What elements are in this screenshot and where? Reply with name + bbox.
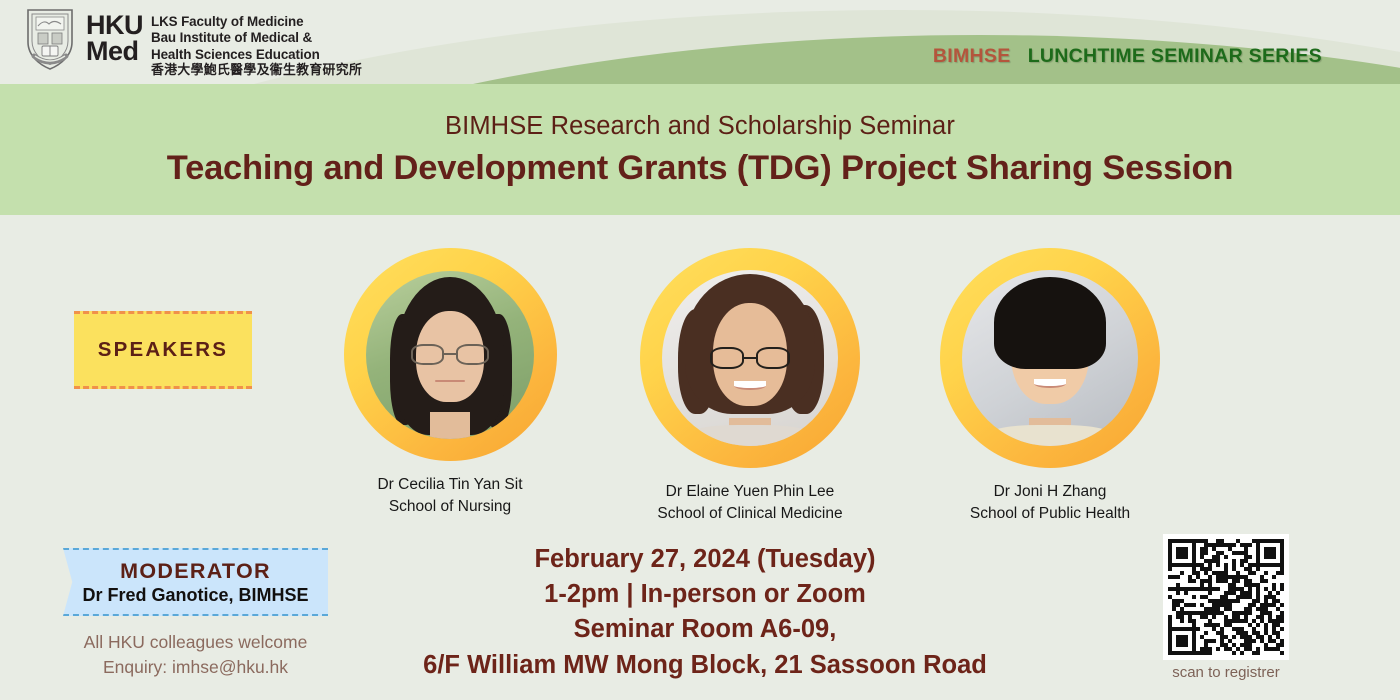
event-time-mode: 1-2pm | In-person or Zoom: [360, 577, 1050, 612]
seminar-poster: HKU Med LKS Faculty of Medicine Bau Inst…: [0, 0, 1400, 700]
speaker-photo-ring: [344, 248, 557, 461]
hku-med-logo: HKU Med LKS Faculty of Medicine Bau Inst…: [22, 6, 362, 79]
speaker-name: Dr Cecilia Tin Yan Sit: [377, 474, 522, 496]
series-prefix: BIMHSE: [933, 45, 1011, 67]
moderator-label: MODERATOR: [120, 559, 271, 584]
qr-code-icon[interactable]: [1163, 534, 1289, 660]
speaker-affiliation: School of Nursing: [377, 496, 522, 518]
speakers-badge: SPEAKERS: [74, 311, 252, 389]
faculty-line-3: Health Sciences Education: [151, 47, 362, 63]
speaker-photo-3: [962, 270, 1138, 446]
wordmark-hku: HKU: [86, 13, 143, 39]
event-details: February 27, 2024 (Tuesday) 1-2pm | In-p…: [360, 542, 1050, 683]
speaker-name: Dr Joni H Zhang: [970, 481, 1130, 503]
eyeglasses-icon: [411, 344, 488, 364]
speakers-row: Dr Cecilia Tin Yan Sit School of Nursing: [320, 248, 1180, 518]
hku-crest-icon: [22, 6, 78, 72]
title-band: BIMHSE Research and Scholarship Seminar …: [0, 84, 1400, 215]
speakers-badge-label: SPEAKERS: [98, 338, 228, 362]
qr-caption: scan to registrer: [1172, 664, 1280, 681]
faculty-line-2: Bau Institute of Medical &: [151, 30, 362, 46]
page-title: Teaching and Development Grants (TDG) Pr…: [167, 149, 1233, 188]
seminar-series-label: BIMHSE LUNCHTIME SEMINAR SERIES: [933, 45, 1322, 68]
event-venue-line-2: 6/F William MW Mong Block, 21 Sassoon Ro…: [360, 648, 1050, 683]
wordmark-med: Med: [86, 39, 143, 65]
speaker-card: Dr Cecilia Tin Yan Sit School of Nursing: [320, 248, 580, 518]
speaker-card: Dr Elaine Yuen Phin Lee School of Clinic…: [620, 248, 880, 518]
speaker-photo-2: [662, 270, 838, 446]
speaker-name-block: Dr Elaine Yuen Phin Lee School of Clinic…: [657, 481, 842, 525]
faculty-name-block: LKS Faculty of Medicine Bau Institute of…: [151, 6, 362, 79]
registration-qr[interactable]: scan to registrer: [1160, 534, 1292, 681]
speaker-name-block: Dr Cecilia Tin Yan Sit School of Nursing: [377, 474, 522, 518]
speaker-photo-1: [366, 271, 534, 439]
speaker-photo-ring: [640, 248, 860, 468]
faculty-line-chinese: 香港大學鮑氏醫學及衞生教育研究所: [151, 63, 362, 79]
speaker-affiliation: School of Clinical Medicine: [657, 503, 842, 525]
moderator-box: MODERATOR Dr Fred Ganotice, BIMHSE: [63, 548, 328, 616]
event-venue-line-1: Seminar Room A6-09,: [360, 612, 1050, 647]
speaker-affiliation: School of Public Health: [970, 503, 1130, 525]
hku-med-wordmark: HKU Med: [86, 6, 143, 64]
seminar-subtitle: BIMHSE Research and Scholarship Seminar: [445, 112, 955, 141]
speaker-card: Dr Joni H Zhang School of Public Health: [920, 248, 1180, 518]
moderator-name: Dr Fred Ganotice, BIMHSE: [82, 585, 308, 606]
welcome-line: All HKU colleagues welcome: [63, 630, 328, 655]
audience-note: All HKU colleagues welcome Enquiry: imhs…: [63, 630, 328, 679]
series-rest: LUNCHTIME SEMINAR SERIES: [1028, 45, 1322, 67]
speaker-name: Dr Elaine Yuen Phin Lee: [657, 481, 842, 503]
event-date: February 27, 2024 (Tuesday): [360, 542, 1050, 577]
faculty-line-1: LKS Faculty of Medicine: [151, 14, 362, 30]
enquiry-line: Enquiry: imhse@hku.hk: [63, 655, 328, 680]
eyeglasses-icon: [710, 347, 791, 368]
speaker-photo-ring: [940, 248, 1160, 468]
speaker-name-block: Dr Joni H Zhang School of Public Health: [970, 481, 1130, 525]
